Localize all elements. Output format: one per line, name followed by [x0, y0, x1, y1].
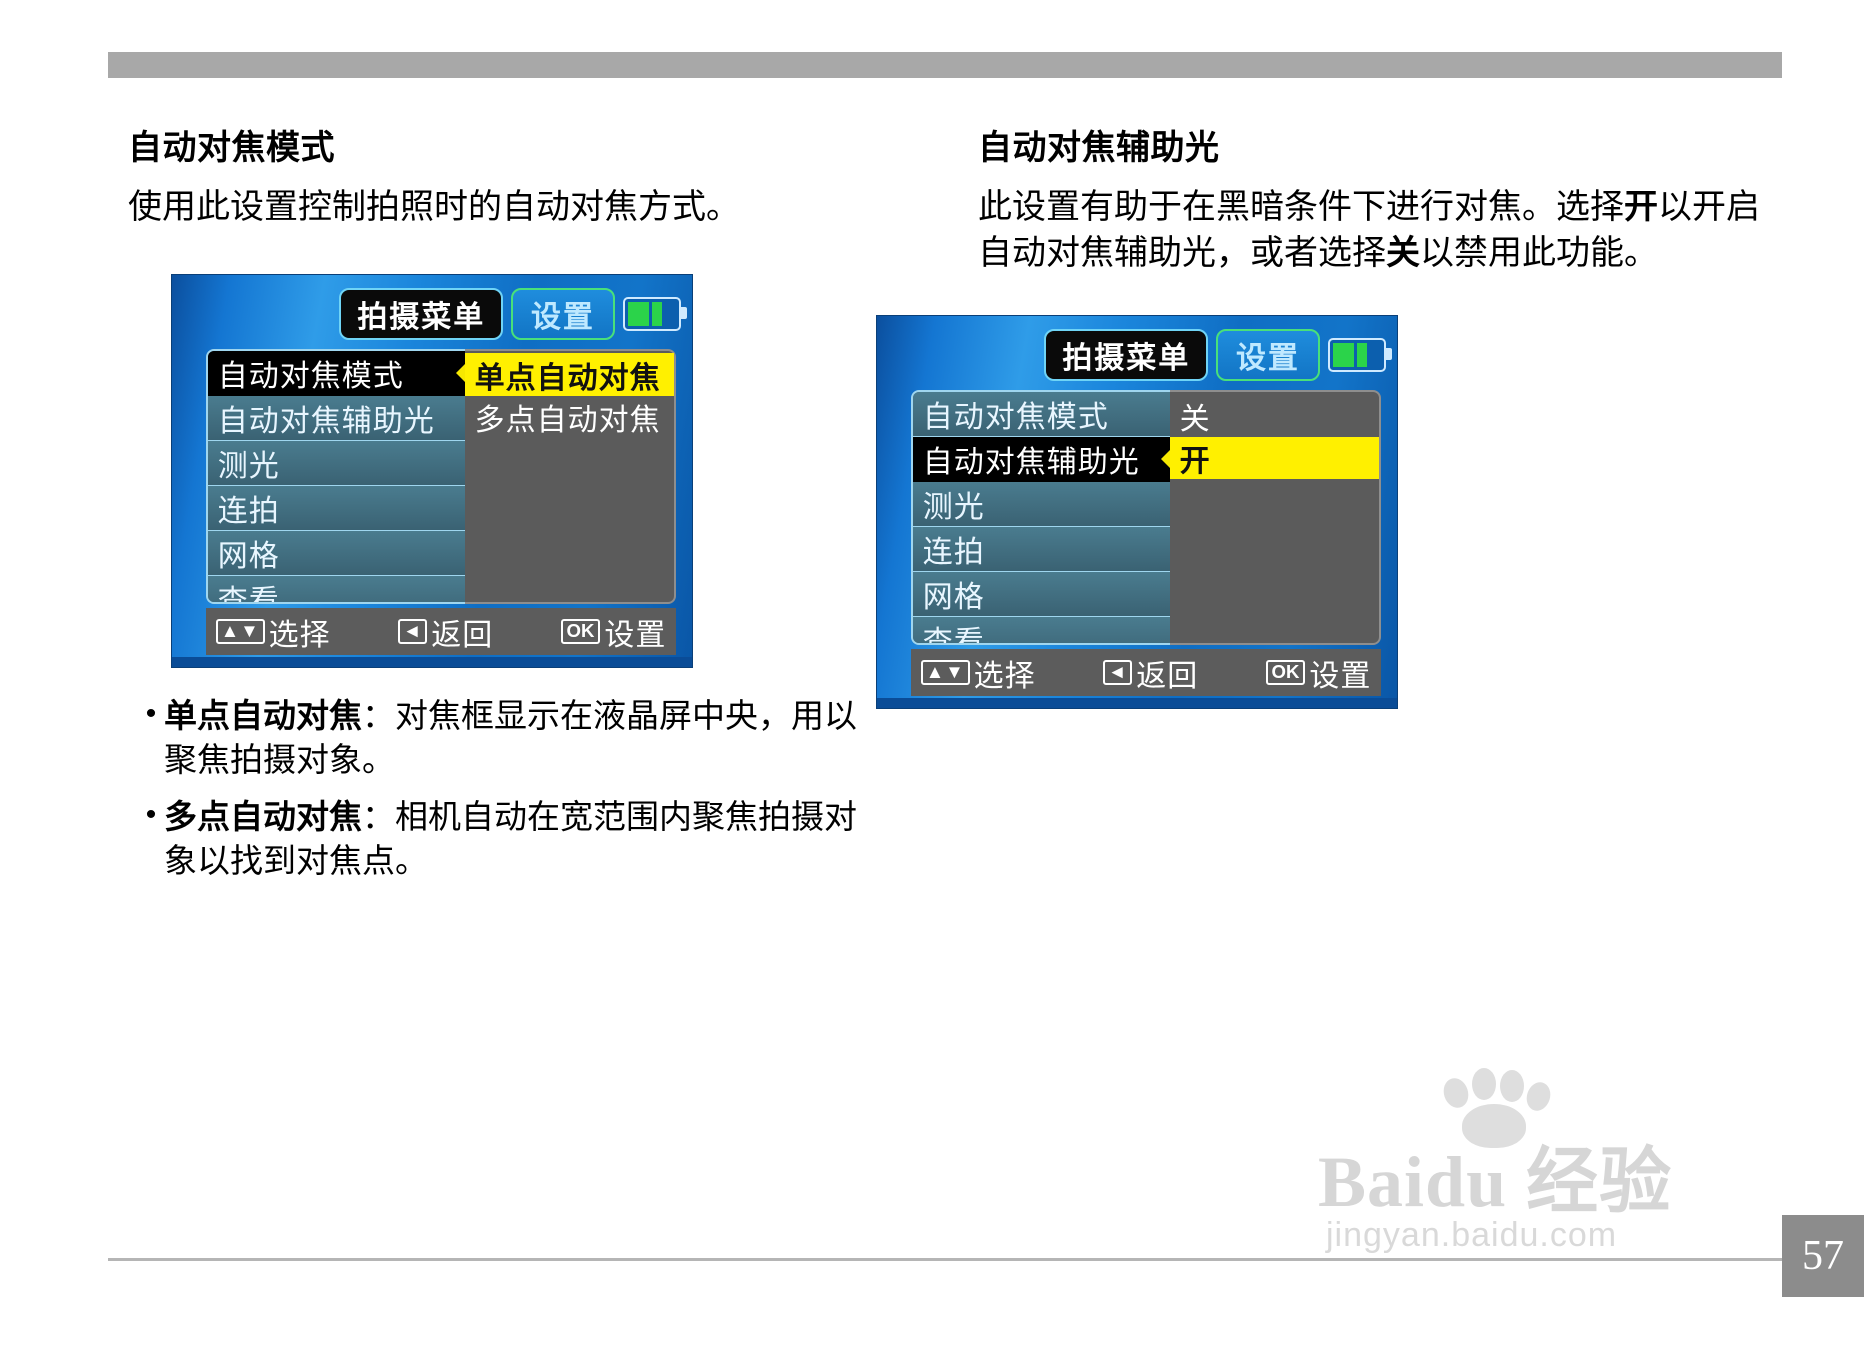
menu-item-label: 自动对焦模式 — [923, 392, 1109, 436]
hint-back-label: 返回 — [1136, 651, 1198, 695]
left-key-icon: ◄ — [398, 619, 427, 644]
tab-setup[interactable]: 设置 — [511, 288, 615, 340]
updown-key-icon: ▲▼ — [216, 619, 265, 644]
menu-list: 自动对焦模式 自动对焦辅助光 测光 连拍 网格 查看 — [911, 390, 1170, 645]
selection-caret-icon — [456, 362, 465, 384]
menu-item-label: 自动对焦辅助光 — [923, 437, 1140, 481]
lcd-footer: ▲▼ 选择 ◄ 返回 OK 设置 — [206, 608, 677, 655]
menu-item-af-mode[interactable]: 自动对焦模式 — [208, 351, 465, 396]
right-section-body: 此设置有助于在黑暗条件下进行对焦。选择开以开启自动对焦辅助光，或者选择关以禁用此… — [978, 185, 1778, 277]
hint-select: ▲▼ 选择 — [921, 651, 1036, 695]
menu-item-label: 测光 — [218, 441, 280, 485]
menu-item-label: 查看 — [218, 576, 280, 604]
selection-caret-icon — [1161, 448, 1170, 470]
menu-item-continuous[interactable]: 连拍 — [208, 486, 465, 531]
tab-shooting-menu[interactable]: 拍摄菜单 — [1044, 329, 1208, 381]
menu-item-label: 查看 — [923, 617, 985, 645]
manual-page: 自动对焦模式 使用此设置控制拍照时的自动对焦方式。 自动对焦辅助光 此设置有助于… — [0, 0, 1871, 1361]
baidu-watermark: Baidu 经验 jingyan.baidu.com — [1318, 1100, 1788, 1280]
menu-item-label: 自动对焦模式 — [218, 351, 404, 395]
menu-item-af-assist[interactable]: 自动对焦辅助光 — [913, 437, 1170, 482]
menu-item-label: 测光 — [923, 482, 985, 526]
list-item: • 单点自动对焦：对焦框显示在液晶屏中央，用以聚焦拍摄对象。 — [138, 694, 868, 781]
updown-key-icon: ▲▼ — [921, 660, 970, 685]
left-section-title: 自动对焦模式 — [128, 130, 848, 167]
hint-select-label: 选择 — [974, 651, 1036, 695]
battery-icon — [623, 297, 681, 331]
right-section-title: 自动对焦辅助光 — [978, 130, 1778, 167]
watermark-sub-text: jingyan.baidu.com — [1326, 1216, 1617, 1255]
right-column: 自动对焦辅助光 此设置有助于在黑暗条件下进行对焦。选择开以开启自动对焦辅助光，或… — [978, 130, 1778, 277]
footer-rule — [108, 1258, 1782, 1261]
camera-lcd-af-mode: 拍摄菜单 设置 自动对焦模式 自动对焦辅助光 测光 连拍 网格 — [172, 275, 692, 667]
tab-shooting-menu[interactable]: 拍摄菜单 — [339, 288, 503, 340]
list-item-text: 单点自动对焦：对焦框显示在液晶屏中央，用以聚焦拍摄对象。 — [164, 694, 868, 781]
menu-list: 自动对焦模式 自动对焦辅助光 测光 连拍 网格 查看 — [206, 349, 465, 604]
hint-set: OK 设置 — [1266, 651, 1372, 695]
left-key-icon: ◄ — [1103, 660, 1132, 685]
menu-item-review[interactable]: 查看 — [913, 617, 1170, 645]
list-item-sep: ： — [362, 697, 395, 734]
menu-item-label: 网格 — [218, 531, 280, 575]
menu-item-metering[interactable]: 测光 — [208, 441, 465, 486]
option-pane: 单点自动对焦 多点自动对焦 — [465, 349, 677, 604]
list-item: • 多点自动对焦：相机自动在宽范围内聚焦拍摄对象以找到对焦点。 — [138, 795, 868, 882]
hint-back-label: 返回 — [431, 610, 493, 654]
menu-item-label: 连拍 — [218, 486, 280, 530]
hint-set: OK 设置 — [561, 610, 667, 654]
list-item-term: 多点自动对焦 — [164, 798, 362, 835]
header-rule — [108, 52, 1782, 78]
menu-item-af-assist[interactable]: 自动对焦辅助光 — [208, 396, 465, 441]
hint-back: ◄ 返回 — [1103, 651, 1198, 695]
option-multi-af[interactable]: 多点自动对焦 — [465, 396, 675, 438]
left-section-body: 使用此设置控制拍照时的自动对焦方式。 — [128, 185, 848, 231]
bullet-dot-icon: • — [138, 694, 164, 781]
list-item-text: 多点自动对焦：相机自动在宽范围内聚焦拍摄对象以找到对焦点。 — [164, 795, 868, 882]
option-pane: 关 开 — [1170, 390, 1382, 645]
hint-set-label: 设置 — [1309, 651, 1371, 695]
right-body-part1: 此设置有助于在黑暗条件下进行对焦。选择 — [978, 188, 1624, 226]
menu-item-metering[interactable]: 测光 — [913, 482, 1170, 527]
ok-key-icon: OK — [561, 619, 601, 644]
ok-key-icon: OK — [1266, 660, 1306, 685]
watermark-main-text: Baidu 经验 — [1318, 1122, 1672, 1227]
battery-icon — [1328, 338, 1386, 372]
hint-set-label: 设置 — [604, 610, 666, 654]
option-on[interactable]: 开 — [1170, 437, 1380, 479]
tab-setup[interactable]: 设置 — [1216, 329, 1320, 381]
bullet-dot-icon: • — [138, 795, 164, 882]
option-off[interactable]: 关 — [1170, 394, 1380, 436]
right-body-part3: 以禁用此功能。 — [1420, 234, 1658, 272]
lcd-body: 自动对焦模式 自动对焦辅助光 测光 连拍 网格 查看 关 — [911, 390, 1382, 645]
hint-back: ◄ 返回 — [398, 610, 493, 654]
right-body-bold-on: 开 — [1624, 188, 1658, 226]
lcd-topbar: 拍摄菜单 设置 — [172, 275, 692, 353]
list-item-sep: ： — [362, 798, 395, 835]
menu-item-review[interactable]: 查看 — [208, 576, 465, 604]
bullet-list: • 单点自动对焦：对焦框显示在液晶屏中央，用以聚焦拍摄对象。 • 多点自动对焦：… — [138, 694, 868, 896]
option-single-af[interactable]: 单点自动对焦 — [465, 353, 675, 395]
menu-item-af-mode[interactable]: 自动对焦模式 — [913, 392, 1170, 437]
lcd-body: 自动对焦模式 自动对焦辅助光 测光 连拍 网格 查看 单 — [206, 349, 677, 604]
left-column: 自动对焦模式 使用此设置控制拍照时的自动对焦方式。 — [128, 130, 848, 231]
lcd-topbar: 拍摄菜单 设置 — [877, 316, 1397, 394]
menu-item-label: 网格 — [923, 572, 985, 616]
menu-item-grid[interactable]: 网格 — [208, 531, 465, 576]
camera-lcd-af-assist: 拍摄菜单 设置 自动对焦模式 自动对焦辅助光 测光 连拍 网格 — [877, 316, 1397, 708]
menu-item-continuous[interactable]: 连拍 — [913, 527, 1170, 572]
menu-item-label: 自动对焦辅助光 — [218, 396, 435, 440]
hint-select: ▲▼ 选择 — [216, 610, 331, 654]
page-number: 57 — [1782, 1215, 1864, 1297]
right-body-bold-off: 关 — [1386, 234, 1420, 272]
menu-item-grid[interactable]: 网格 — [913, 572, 1170, 617]
hint-select-label: 选择 — [269, 610, 331, 654]
paw-print-icon — [1438, 1068, 1558, 1148]
list-item-term: 单点自动对焦 — [164, 697, 362, 734]
lcd-footer: ▲▼ 选择 ◄ 返回 OK 设置 — [911, 649, 1382, 696]
menu-item-label: 连拍 — [923, 527, 985, 571]
